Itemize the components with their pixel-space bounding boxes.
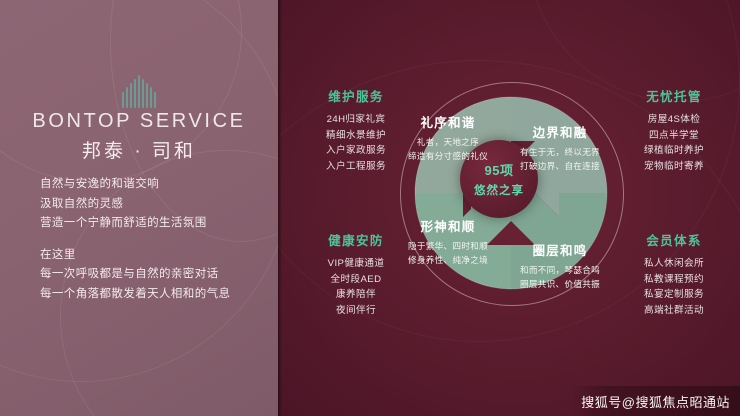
brand-name-cn: 邦泰 · 司和 (0, 136, 278, 163)
service-group-title: 无忧托管 (618, 86, 730, 105)
service-group-title: 会员体系 (618, 230, 730, 249)
quadrant-line: 有生于无，终以无界 (508, 146, 612, 160)
quadrant-line: 礼者，天地之序 (396, 136, 500, 150)
quadrant-line: 打破边界、自在连接 (508, 160, 612, 174)
quadrant-line: 隐于繁华、四时和顺 (396, 240, 500, 254)
service-group-custody: 无忧托管 房屋4S体检 四点半学堂 绿植临时养护 宠物临时寄养 (618, 86, 730, 174)
quadrant-line: 圈层共识、价值共振 (508, 278, 612, 292)
quadrant-title: 礼序和谐 (396, 112, 500, 131)
service-item: 私人休闲会所 (618, 256, 730, 272)
panel-divider (278, 0, 282, 416)
slide-canvas: BONTOP SERVICE 邦泰 · 司和 自然与安逸的和谐交响 汲取自然的灵… (0, 0, 740, 416)
service-item: 夜间伴行 (300, 303, 412, 319)
service-item: 四点半学堂 (618, 128, 730, 144)
copy-line: 营造一个宁静而舒适的生活氛围 (40, 214, 265, 234)
copy-spacer (40, 234, 265, 246)
service-item: 私教课程预约 (618, 272, 730, 288)
center-label: 悠然之享 (474, 182, 524, 198)
service-item: 绿植临时养护 (618, 143, 730, 159)
service-item: 高端社群活动 (618, 303, 730, 319)
quadrant-label-top-right: 边界和融 有生于无，终以无界 打破边界、自在连接 (508, 122, 612, 173)
watermark: 搜狐号@搜狐焦点昭通站 (571, 386, 740, 416)
service-item: 私宴定制服务 (618, 287, 730, 303)
quadrant-label-bottom-left: 形神和顺 隐于繁华、四时和顺 修身养性、纯净之境 (396, 216, 500, 267)
quadrant-title: 边界和融 (508, 122, 612, 141)
service-item: 全时段AED (300, 272, 412, 288)
quadrant-label-top-left: 礼序和谐 礼者，天地之序 缔造有分寸感的礼仪 (396, 112, 500, 163)
brand-name-en: BONTOP SERVICE (0, 110, 278, 133)
service-item: 康养陪伴 (300, 287, 412, 303)
service-group-title: 维护服务 (300, 86, 412, 105)
quadrant-line: 缔造有分寸感的礼仪 (396, 150, 500, 164)
service-group-member: 会员体系 私人休闲会所 私教课程预约 私宴定制服务 高端社群活动 (618, 230, 730, 318)
service-item: 房屋4S体检 (618, 112, 730, 128)
quadrant-label-bottom-right: 圈层和鸣 和而不同，琴瑟合鸣 圈层共识、价值共振 (508, 240, 612, 291)
copy-line: 在这里 (40, 246, 265, 266)
left-brand-panel: BONTOP SERVICE 邦泰 · 司和 自然与安逸的和谐交响 汲取自然的灵… (0, 0, 278, 416)
quadrant-line: 修身养性、纯净之境 (396, 254, 500, 268)
quadrant-title: 圈层和鸣 (508, 240, 612, 259)
vertical-bars-logo-icon (118, 74, 160, 108)
copy-line: 每一次呼吸都是与自然的亲密对话 (40, 265, 265, 285)
copy-line: 每一个角落都散发着天人相和的气息 (40, 285, 265, 305)
copy-line: 自然与安逸的和谐交响 (40, 175, 265, 195)
brand-copy-block: 自然与安逸的和谐交响 汲取自然的灵感 营造一个宁静而舒适的生活氛围 在这里 每一… (40, 175, 265, 304)
watermark-text: 搜狐号@搜狐焦点昭通站 (581, 392, 730, 411)
quadrant-title: 形神和顺 (396, 216, 500, 235)
quadrant-line: 和而不同，琴瑟合鸣 (508, 264, 612, 278)
copy-line: 汲取自然的灵感 (40, 195, 265, 215)
service-item: 宠物临时寄养 (618, 159, 730, 175)
